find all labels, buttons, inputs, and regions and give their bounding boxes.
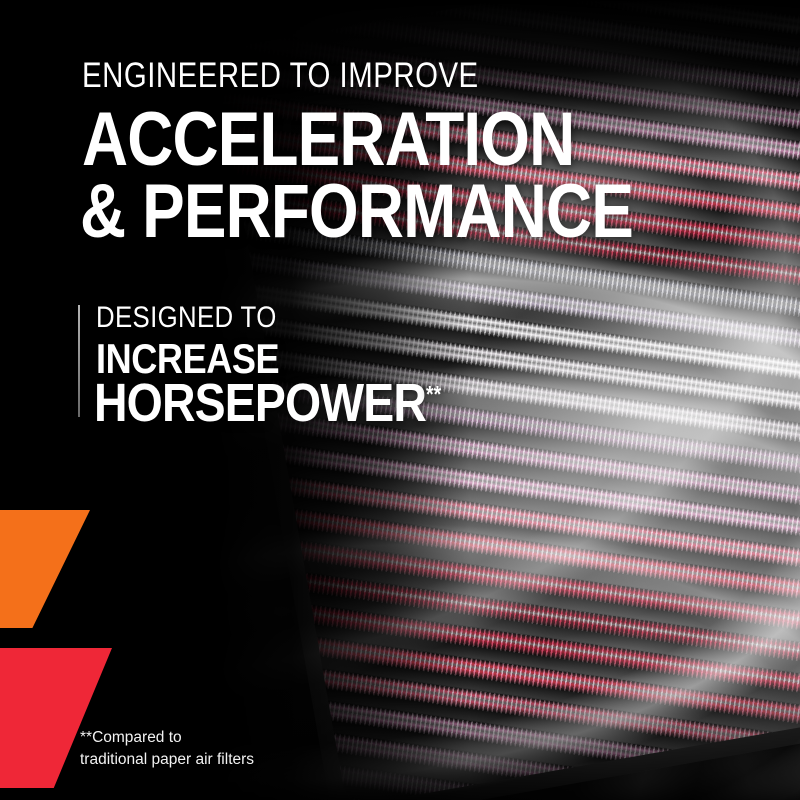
subhead-vertical-rule (78, 305, 80, 417)
subhead-horsepower-word: HORSEPOWER (94, 373, 426, 433)
footnote-text: **Compared to traditional paper air filt… (80, 727, 254, 771)
headline-line-performance: & PERFORMANCE (80, 176, 633, 248)
headline-kicker: ENGINEERED TO IMPROVE (82, 58, 479, 93)
subhead-line-horsepower: HORSEPOWER** (94, 376, 441, 430)
subhead-kicker: DESIGNED TO (96, 303, 277, 333)
footnote-marker: ** (426, 381, 441, 407)
headline-line-acceleration: ACCELERATION (82, 104, 574, 176)
banner-canvas: ENGINEERED TO IMPROVE ACCELERATION & PER… (0, 0, 800, 800)
